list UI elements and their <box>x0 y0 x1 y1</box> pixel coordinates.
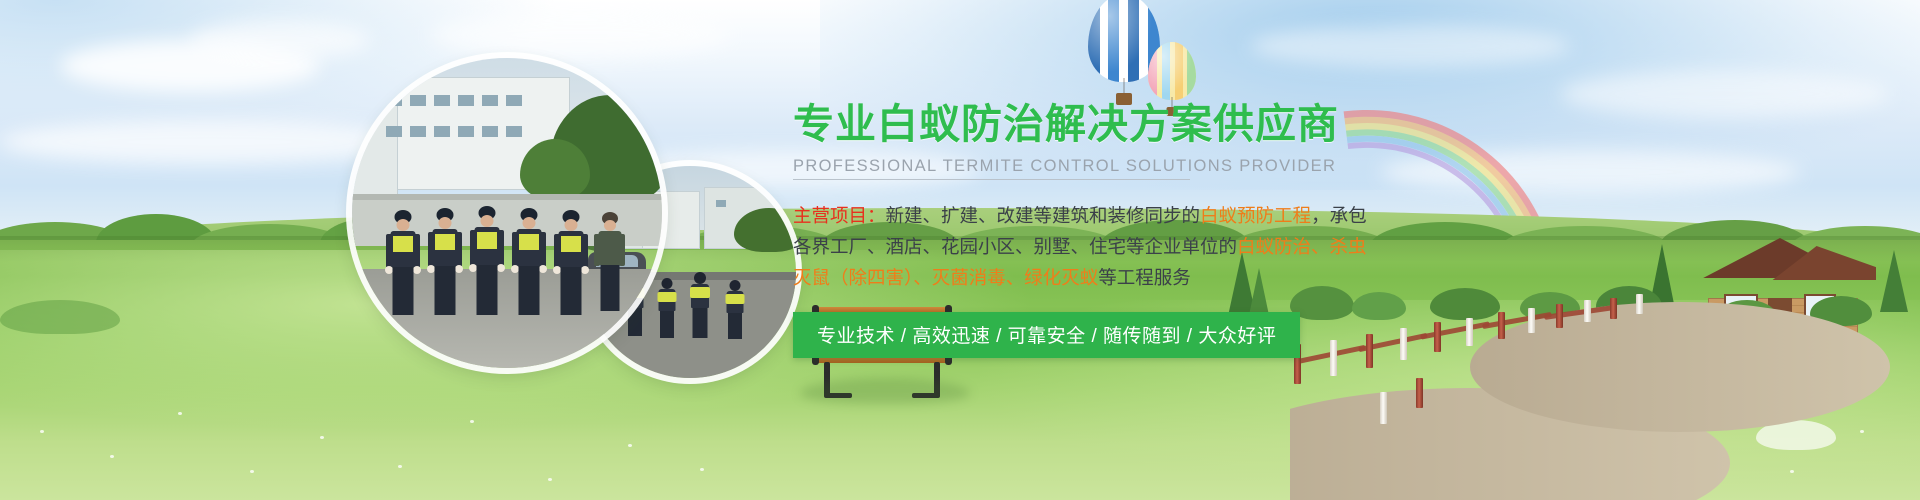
label-colon: ： <box>867 206 886 227</box>
worker-figure <box>388 210 418 316</box>
worker-figure <box>688 272 712 340</box>
worker-figure <box>556 210 586 316</box>
bench-shadow <box>800 378 970 404</box>
line2-highlight: 白蚁防治、杀虫 <box>1237 237 1367 258</box>
worker-figure <box>430 208 460 316</box>
features-bar-wrap: 专业技术 / 高效迅速 / 可靠安全 / 随传随到 / 大众好评 <box>793 312 1893 356</box>
line2-segment-1: 各界工厂、酒店、花园小区、别墅、住宅等企业单位的 <box>793 237 1237 258</box>
fence-post <box>1416 378 1423 408</box>
subtitle-en: PROFESSIONAL TERMITE CONTROL SOLUTIONS P… <box>793 157 1336 175</box>
worker-figure <box>724 280 746 340</box>
fence-post <box>1380 392 1387 424</box>
worker-figure <box>472 206 502 316</box>
hero-banner: 专业白蚁防治解决方案供应商 PROFESSIONAL TERMITE CONTR… <box>0 0 1920 500</box>
cloud-shape <box>190 20 370 60</box>
cloud-shape <box>1250 24 1570 68</box>
line1-segment-2: ，承包 <box>1311 206 1367 227</box>
photo-collage <box>352 58 800 378</box>
hot-air-balloon-pastel <box>1148 42 1196 100</box>
cloud-shape <box>430 12 730 58</box>
main-projects-label: 主营项目 <box>793 206 867 227</box>
line1-segment-1: 新建、扩建、改建等建筑和装修同步的 <box>886 206 1201 227</box>
body-line-1: 主营项目：新建、扩建、改建等建筑和装修同步的白蚁预防工程，承包 <box>793 201 1893 232</box>
line1-highlight: 白蚁预防工程 <box>1200 206 1311 227</box>
body-line-2: 各界工厂、酒店、花园小区、别墅、住宅等企业单位的白蚁防治、杀虫 <box>793 232 1893 263</box>
line3-segment-1: 等工程服务 <box>1098 268 1191 289</box>
subtitle-row: PROFESSIONAL TERMITE CONTROL SOLUTIONS P… <box>793 157 1893 179</box>
body-line-3: 灭鼠（除四害）、灭菌消毒、绿化灭蚁等工程服务 <box>793 263 1893 294</box>
worker-figure <box>596 212 624 314</box>
features-bar[interactable]: 专业技术 / 高效迅速 / 可靠安全 / 随传随到 / 大众好评 <box>793 312 1300 358</box>
hero-text-block: 专业白蚁防治解决方案供应商 PROFESSIONAL TERMITE CONTR… <box>793 100 1893 356</box>
photo-main <box>352 58 662 368</box>
worker-figure <box>514 208 544 316</box>
line3-highlight: 灭鼠（除四害）、灭菌消毒、绿化灭蚁 <box>793 268 1098 289</box>
page-title: 专业白蚁防治解决方案供应商 <box>793 100 1893 148</box>
bush <box>0 300 120 334</box>
subtitle-divider <box>793 179 1190 180</box>
